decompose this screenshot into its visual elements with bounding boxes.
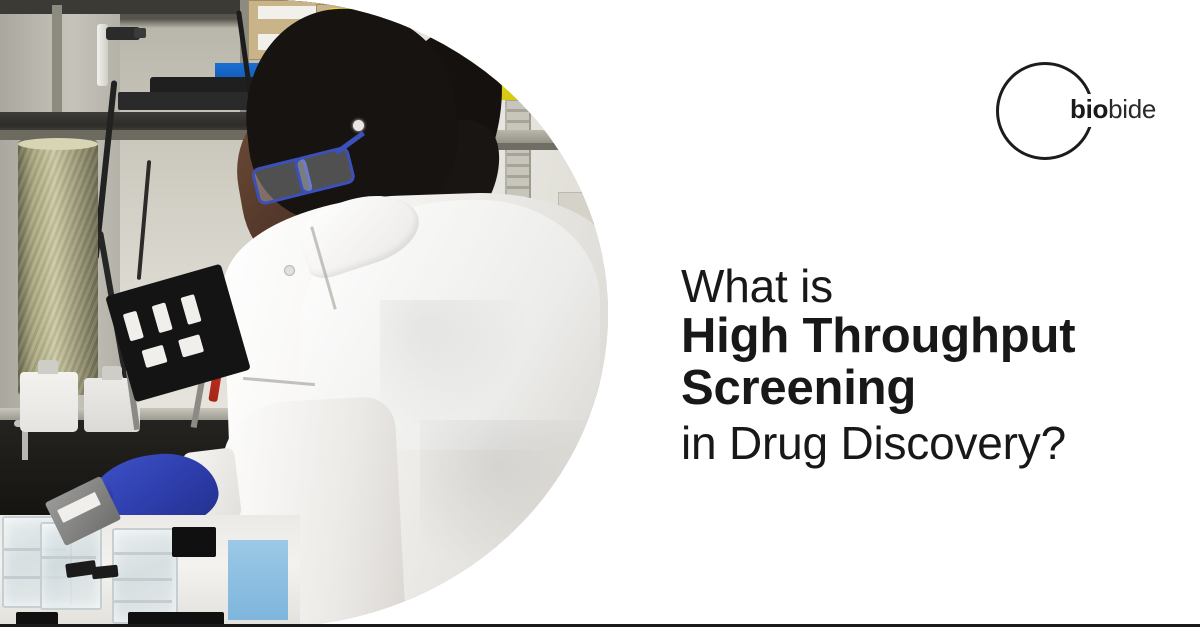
- laboratory-scientist-photo: [0, 0, 608, 627]
- logo-wordmark-light: bide: [1108, 94, 1156, 124]
- rack-slot-5: [178, 334, 204, 357]
- rack-slot-3: [180, 294, 201, 325]
- glass-tank-right-shelf-3: [114, 600, 172, 603]
- headline-line-3: Screening: [681, 363, 1151, 415]
- logo-wordmark: biobide: [1066, 94, 1162, 127]
- rack-slot-2: [152, 302, 173, 333]
- earring: [353, 120, 364, 131]
- instrument-strip: [172, 527, 216, 557]
- bench-dark-block-1: [16, 612, 58, 627]
- lab-cylinder-column: [18, 140, 98, 395]
- box-label-c: [528, 16, 580, 30]
- black-instrument-body: [118, 92, 248, 110]
- banner-canvas: biobide What is High Throughput Screenin…: [0, 0, 1200, 627]
- reagent-bottle-left: [20, 372, 78, 432]
- page-title: What is High Throughput Screening in Dru…: [681, 262, 1151, 467]
- lab-coat-fold-lower: [420, 420, 608, 570]
- headline-line-1: What is: [681, 262, 1151, 311]
- bench-dark-block-2: [128, 612, 224, 627]
- shelf-bracket-left: [52, 5, 62, 115]
- rack-slot-1: [123, 311, 144, 342]
- headline-line-4: in Drug Discovery?: [681, 419, 1151, 468]
- rack-slot-4: [141, 345, 167, 368]
- cylinder-top-rim: [18, 138, 98, 150]
- blue-bench-mat: [228, 540, 288, 620]
- headline-line-2: High Throughput: [681, 311, 1151, 363]
- photo-scene: [0, 0, 608, 627]
- glass-tank-mid-shelf-1: [42, 556, 96, 559]
- glass-tank-right-shelf-2: [114, 578, 172, 581]
- lab-coat-button: [284, 265, 295, 276]
- lab-coat-fold-upper: [380, 300, 530, 430]
- bottle-cap-right: [102, 366, 122, 380]
- probe-tip: [134, 28, 146, 38]
- biobide-logo[interactable]: biobide: [996, 60, 1176, 170]
- cassette-label: [57, 492, 101, 523]
- bottle-cap-left: [38, 360, 58, 374]
- logo-wordmark-bold: bio: [1070, 94, 1108, 124]
- glass-staining-tank-right: [112, 528, 178, 624]
- glass-tank-right-shelf-1: [114, 552, 172, 555]
- cylinder-texture: [18, 140, 98, 395]
